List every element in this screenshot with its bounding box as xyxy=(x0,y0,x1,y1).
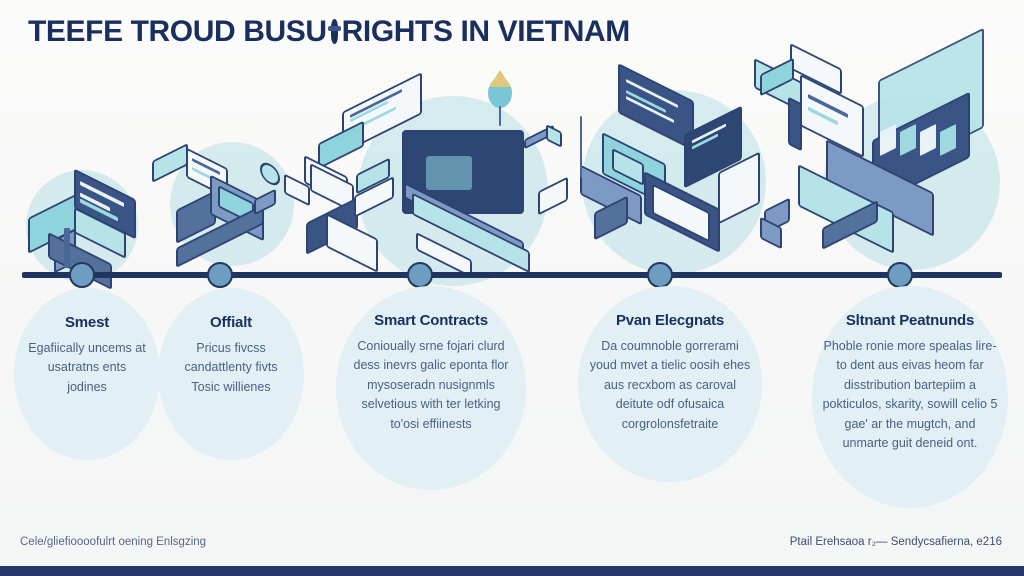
bottom-accent-bar xyxy=(0,566,1024,576)
card-body: Da coumnoble gorrerami youd mvet a tieli… xyxy=(579,337,761,434)
card-body: Egafiically uncems at usatratns ents jod… xyxy=(19,339,155,397)
card-title: Smest xyxy=(65,314,109,331)
illustration-isometric-multi-screen-printer-cluster xyxy=(536,64,796,282)
card-title: Offialt xyxy=(210,314,252,331)
footer-right-text: Ptail Erehsaoa r₂— Sendycsafierna, e216 xyxy=(790,536,1002,548)
card-title: Pvan Elecgnats xyxy=(616,312,724,329)
footer-left-text: Cele/gliefioooofulrt oening Enlsgzing xyxy=(20,536,206,548)
card-row: Smest Egafiically uncems at usatratns en… xyxy=(0,282,1024,522)
card-pvan-elecgnats[interactable]: Pvan Elecgnats Da coumnoble gorrerami yo… xyxy=(578,286,762,482)
card-offialt[interactable]: Offialt Pricus fivcss candattlenty fivts… xyxy=(158,288,304,460)
infographic-canvas: TEEFE TROUD BUSURIGHTS IN VIETNAM xyxy=(0,0,1024,576)
card-body: Conioually srne fojari clurd dess inevrs… xyxy=(338,337,524,434)
card-title: Sltnant Peatnunds xyxy=(846,312,974,329)
illustration-isometric-laptop-with-panels xyxy=(760,38,1018,282)
card-smest[interactable]: Smest Egafiically uncems at usatratns en… xyxy=(14,288,160,460)
timeline-axis xyxy=(22,272,1002,278)
illustration-band xyxy=(0,34,1024,282)
card-body: Phoble ronie more spealas lire-to dent a… xyxy=(814,337,1006,453)
illustration-isometric-server-box-with-screen xyxy=(148,122,313,282)
card-title: Smart Contracts xyxy=(374,312,488,329)
card-sltnant-peatnunds[interactable]: Sltnant Peatnunds Phoble ronie more spea… xyxy=(812,286,1008,508)
card-smart-contracts[interactable]: Smart Contracts Conioually srne fojari c… xyxy=(336,286,526,490)
footer: Cele/gliefioooofulrt oening Enlsgzing Pt… xyxy=(0,528,1024,566)
card-body: Pricus fivcss candattlenty fivts Tosic w… xyxy=(163,339,299,397)
